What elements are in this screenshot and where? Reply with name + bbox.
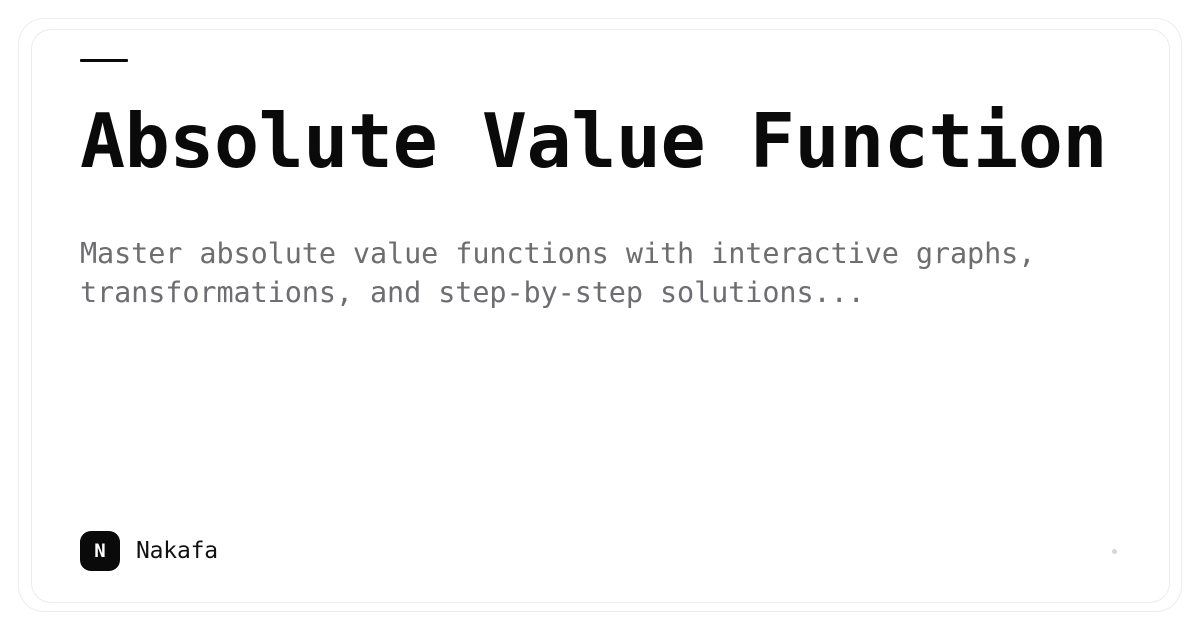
brand: N Nakafa: [80, 531, 218, 571]
status-dot-icon: [1112, 549, 1117, 554]
brand-name: Nakafa: [136, 540, 218, 563]
page-subtitle: Master absolute value functions with int…: [80, 234, 1060, 312]
card-footer: N Nakafa: [80, 530, 1121, 572]
page-title: Absolute Value Function: [80, 104, 1107, 179]
accent-bar: [80, 59, 128, 62]
og-image-root: Absolute Value Function Master absolute …: [0, 0, 1200, 630]
brand-logo-letter: N: [94, 542, 105, 561]
content-card: Absolute Value Function Master absolute …: [31, 29, 1170, 603]
subtitle-line-1: Master absolute value functions with int…: [80, 234, 1060, 273]
card-inner: Absolute Value Function Master absolute …: [32, 30, 1169, 602]
subtitle-line-2: transformations, and step-by-step soluti…: [80, 273, 1060, 312]
brand-logo-icon: N: [80, 531, 120, 571]
